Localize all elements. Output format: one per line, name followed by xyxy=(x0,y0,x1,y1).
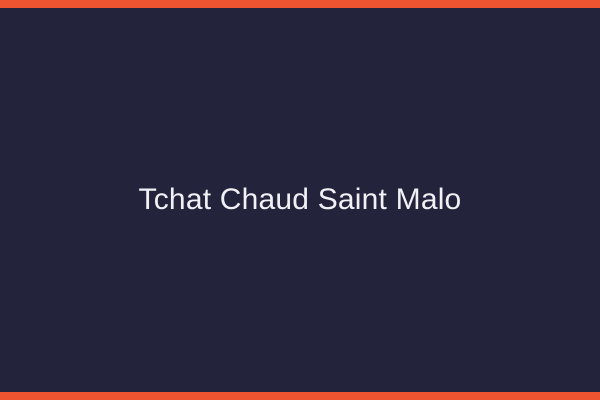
page-title: Tchat Chaud Saint Malo xyxy=(115,182,486,218)
top-accent-bar xyxy=(0,0,600,8)
placeholder-card: Tchat Chaud Saint Malo xyxy=(0,0,600,400)
bottom-accent-bar xyxy=(0,392,600,400)
